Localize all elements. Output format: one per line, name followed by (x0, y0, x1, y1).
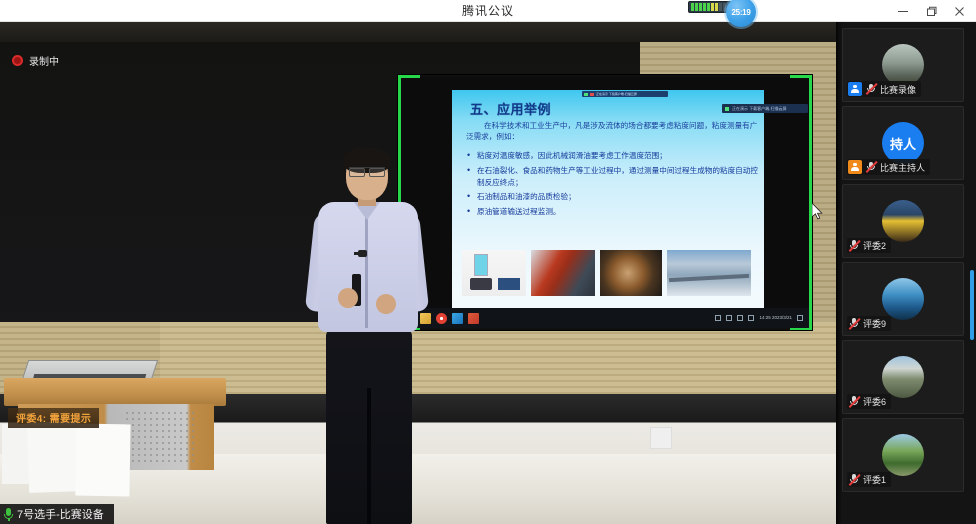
avatar (882, 278, 924, 320)
speaker-video-feed: 正在演示 下载客户端-扫描云屏 五、应用举例 在科学技术和工业生产中，凡是涉及流… (0, 22, 836, 524)
tray-volume-icon (737, 315, 743, 321)
slide-image-viscometer-device (462, 250, 526, 296)
mic-muted-icon[interactable] (865, 161, 877, 173)
participant-name: 评委2 (863, 239, 886, 252)
presenter-figure (302, 150, 434, 524)
participant-label: 评委6 (847, 394, 891, 409)
projected-windows-taskbar: 14:25 2023/3/21 (400, 308, 809, 328)
maximize-icon[interactable] (918, 1, 944, 21)
slide-share-toolbar: 正在演示 下载客户端-扫描云屏 (582, 91, 668, 97)
mic-muted-icon[interactable] (848, 474, 860, 486)
judge-prompt-banner: 评委4: 需要提示 (8, 408, 99, 428)
tray-network-icon (726, 315, 732, 321)
chrome-icon (436, 313, 447, 324)
host-person-icon (848, 160, 862, 174)
presenter-lapel-mic (358, 250, 367, 257)
participant-rail[interactable]: 比赛录像 持人 比赛主持人 评委2 评委9 评委6 (836, 22, 976, 524)
meter-bar (711, 3, 714, 11)
podium-paper (75, 424, 130, 497)
window-controls (890, 0, 972, 22)
participant-label: 比赛录像 (847, 81, 921, 97)
recording-label: 录制中 (29, 53, 59, 68)
mic-muted-icon[interactable] (848, 318, 860, 330)
edge-icon (452, 313, 463, 324)
scrollbar-thumb[interactable] (970, 270, 974, 340)
participant-label: 评委9 (847, 316, 891, 331)
slide-title: 五、应用举例 (470, 99, 551, 118)
avatar (882, 200, 924, 242)
presenter-glasses (349, 167, 385, 174)
participant-tile[interactable]: 评委6 (842, 340, 964, 414)
recording-indicator[interactable]: 录制中 (12, 53, 59, 68)
participant-name: 评委9 (863, 317, 886, 330)
slide-bullet: 石油制品和油漆的品质检验； (466, 191, 760, 203)
mic-muted-icon[interactable] (848, 240, 860, 252)
slide-bullet-list: 粘度对温度敏感，因此机械润滑油要考虑工作温度范围； 在石油裂化、食品和药物生产等… (466, 150, 760, 221)
meter-bar (691, 3, 694, 11)
slide-image-oil-pipeline (667, 250, 751, 296)
participant-tile[interactable]: 持人 比赛主持人 (842, 106, 964, 180)
participant-label: 比赛主持人 (847, 159, 930, 175)
display-status-chip: 正在演示 下载客户端-扫描云屏 (722, 104, 808, 113)
window-title: 腾讯公议 (0, 0, 976, 22)
display-status-label: 正在演示 下载客户端-扫描云屏 (732, 104, 786, 113)
avatar (882, 434, 924, 476)
speaker-name-bar: 7号选手-比赛设备 (0, 504, 114, 524)
participant-tile[interactable]: 比赛录像 (842, 28, 964, 102)
meter-bar (699, 3, 702, 11)
participant-tile[interactable]: 评委2 (842, 184, 964, 258)
podium-perforated-panel (124, 410, 194, 466)
avatar (882, 356, 924, 398)
close-icon[interactable] (946, 1, 972, 21)
record-dot-icon (12, 55, 23, 66)
mouse-cursor (812, 203, 824, 221)
mic-muted-icon[interactable] (848, 396, 860, 408)
display-edge-light (398, 75, 420, 78)
avatar: 持人 (882, 122, 924, 164)
microphone-icon (4, 508, 13, 521)
podium-top-surface (4, 378, 226, 406)
presentation-slide: 正在演示 下载客户端-扫描云屏 五、应用举例 在科学技术和工业生产中，凡是涉及流… (452, 90, 764, 308)
participant-label: 评委1 (847, 472, 891, 487)
participant-rail-scrollbar[interactable] (970, 22, 975, 524)
meter-bar (695, 3, 698, 11)
podium-paper (2, 424, 30, 484)
minimize-icon[interactable] (890, 1, 916, 21)
participant-tile[interactable]: 评委9 (842, 262, 964, 336)
person-icon (848, 82, 862, 96)
wall-sign (650, 427, 672, 449)
slide-toolbar-chip-label: 正在演示 下载客户端-扫描云屏 (596, 91, 637, 97)
presenter-trousers (326, 328, 412, 524)
meter-bar (703, 3, 706, 11)
mic-muted-icon[interactable] (865, 83, 877, 95)
slide-bullet: 粘度对温度敏感，因此机械润滑油要考虑工作温度范围； (466, 150, 760, 162)
meter-bar (715, 3, 718, 11)
notification-icon (797, 315, 803, 321)
slide-bullet: 在石油裂化、食品和药物生产等工业过程中，通过测量中间过程生成物的粘度自动控制反应… (466, 165, 760, 189)
slide-image-industrial-machinery (531, 250, 595, 296)
meter-bar (719, 3, 722, 11)
presenter-hand-left (338, 288, 358, 308)
meter-bar (707, 3, 710, 11)
speaker-name-label: 7号选手-比赛设备 (17, 506, 104, 522)
participant-name: 比赛录像 (880, 83, 916, 96)
main-video-stage[interactable]: 正在演示 下载客户端-扫描云屏 五、应用举例 在科学技术和工业生产中，凡是涉及流… (0, 22, 836, 524)
slide-image-row (462, 250, 758, 296)
slide-paragraph: 在科学技术和工业生产中，凡是涉及流体的场合都要考虑粘度问题，粘度测量有广泛需求，… (466, 120, 758, 143)
taskbar-clock: 14:25 2023/3/21 (759, 315, 792, 321)
podium-paper (27, 421, 81, 493)
participant-name: 比赛主持人 (880, 161, 925, 174)
presenter-hand-right (376, 294, 396, 314)
tray-battery-icon (748, 315, 754, 321)
window-titlebar: 腾讯公议 25:19 (0, 0, 976, 22)
participant-name: 评委6 (863, 395, 886, 408)
avatar (882, 44, 924, 86)
presenter-shirt (318, 202, 418, 332)
powerpoint-icon (468, 313, 479, 324)
system-tray: 14:25 2023/3/21 (715, 308, 803, 328)
tray-chevron-icon (715, 315, 721, 321)
slide-bullet: 原油管道输送过程监测。 (466, 206, 760, 218)
participant-tile[interactable]: 评委1 (842, 418, 964, 492)
presenter-shirt-placket (365, 210, 368, 328)
participant-name: 评委1 (863, 473, 886, 486)
participant-label: 评委2 (847, 238, 891, 253)
slide-image-gear-turbine (600, 250, 662, 296)
